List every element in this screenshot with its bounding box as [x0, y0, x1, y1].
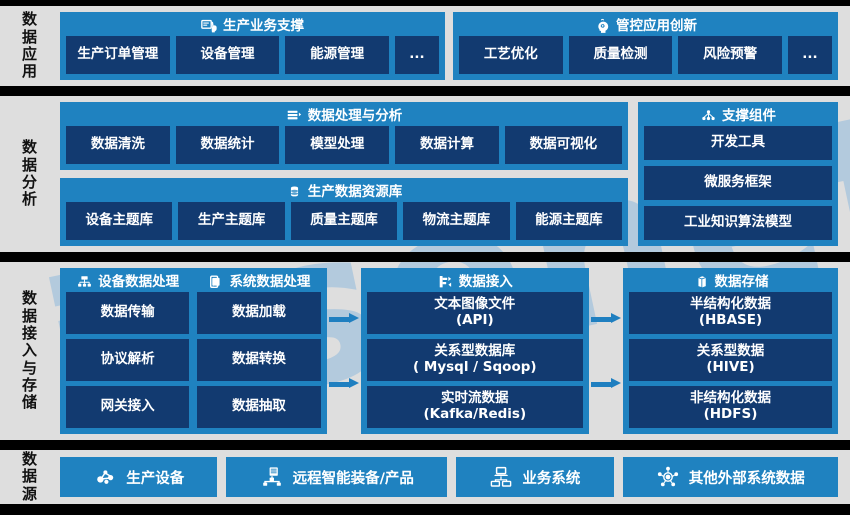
group-title-device-data-processing: 设备数据处理 [66, 272, 189, 292]
server-rack-icon [76, 274, 93, 291]
group-title-text: 管控应用创新 [616, 17, 697, 36]
separator-2 [0, 252, 850, 262]
band-label-data-analysis: 数据分析 [0, 96, 60, 252]
group-title-system-data-processing: 系统数据处理 [197, 272, 320, 292]
separator-bottom [0, 504, 850, 515]
tiles-production-business-support: 生产订单管理 设备管理 能源管理 ... [66, 36, 439, 74]
band-data-ingestion-storage: 数据接入与存储 [0, 262, 850, 440]
data-plug-icon [437, 274, 454, 291]
source-production-equipment[interactable]: 生产设备 [60, 457, 217, 497]
group-control-application-innovation[interactable]: 管控应用创新 工艺优化 质量检测 风险预警 ... [453, 12, 838, 80]
tile-risk-warning[interactable]: 风险预警 [678, 36, 782, 74]
source-label: 业务系统 [522, 467, 580, 488]
group-title-text: 系统数据处理 [229, 273, 310, 292]
tile-relational-hive[interactable]: 关系型数据 (HIVE) [629, 339, 832, 381]
group-title-production-data-repository: 生产数据资源库 [66, 182, 622, 202]
tile-data-transformation[interactable]: 数据转换 [197, 339, 320, 381]
band-data-application: 数据应用 生产业务支撑 生产订单管理 设备管理 [0, 6, 850, 86]
source-label: 远程智能装备/产品 [293, 467, 414, 488]
molecule-node-icon [93, 465, 117, 489]
group-data-storage[interactable]: 数据存储 半结构化数据 (HBASE) 关系型数据 (HIVE) 非结构化数据 … [623, 268, 838, 434]
tile-unstructured-hdfs[interactable]: 非结构化数据 (HDFS) [629, 386, 832, 428]
head-gear-idea-icon [594, 18, 611, 35]
tile-text-image-file-api[interactable]: 文本图像文件 (API) [367, 292, 583, 334]
tile-energy-subject-db[interactable]: 能源主题库 [516, 202, 622, 240]
band-data-source: 数据源 生产设备 [0, 450, 850, 504]
tile-equipment-subject-db[interactable]: 设备主题库 [66, 202, 172, 240]
tile-production-subject-db[interactable]: 生产主题库 [178, 202, 284, 240]
tile-semi-structured-hbase[interactable]: 半结构化数据 (HBASE) [629, 292, 832, 334]
architecture-diagram: icsonet 数据应用 生产业务支撑 [0, 0, 850, 515]
analysis-left-column: 数据处理与分析 数据清洗 数据统计 模型处理 数据计算 数据可视化 [60, 102, 628, 246]
band-label-text: 数据应用 [22, 11, 39, 81]
tile-gateway-access[interactable]: 网关接入 [66, 386, 189, 428]
tile-more-business[interactable]: ... [395, 36, 439, 74]
group-title-data-storage: 数据存储 [629, 272, 832, 292]
arrow-processing-to-ingest-top [329, 313, 359, 324]
separator-1 [0, 86, 850, 96]
group-title-data-ingestion: 数据接入 [367, 272, 583, 292]
group-title-data-processing-analysis: 数据处理与分析 [66, 106, 622, 126]
source-label: 生产设备 [126, 467, 184, 488]
tiles-device-system-processing: 数据传输 协议解析 网关接入 数据加载 数据转换 数据抽取 [66, 292, 321, 428]
group-title-control-application-innovation: 管控应用创新 [459, 16, 832, 36]
presentation-hand-icon [201, 18, 218, 35]
group-device-and-system-processing[interactable]: 设备数据处理 系统数据处理 [60, 268, 327, 434]
tile-quality-inspection[interactable]: 质量检测 [569, 36, 673, 74]
tile-relational-database-mysql-sqoop[interactable]: 关系型数据库 ( Mysql / Sqoop) [367, 339, 583, 381]
tile-data-computation[interactable]: 数据计算 [395, 126, 499, 164]
tile-data-visualization[interactable]: 数据可视化 [505, 126, 622, 164]
arrow-ingest-to-storage-top [591, 313, 621, 324]
external-hub-icon [656, 465, 680, 489]
tile-quality-subject-db[interactable]: 质量主题库 [291, 202, 397, 240]
storage-box-icon [693, 274, 710, 291]
group-title-support-components: 支撑组件 [644, 106, 832, 126]
group-title-text: 数据存储 [715, 273, 769, 292]
tile-industrial-knowledge-algorithm-model[interactable]: 工业知识算法模型 [644, 206, 832, 240]
tiles-data-ingestion: 文本图像文件 (API) 关系型数据库 ( Mysql / Sqoop) 实时流… [367, 292, 583, 428]
group-data-ingestion[interactable]: 数据接入 文本图像文件 (API) 关系型数据库 ( Mysql / Sqoop… [361, 268, 589, 434]
tile-data-transmission[interactable]: 数据传输 [66, 292, 189, 334]
tile-energy-management[interactable]: 能源管理 [285, 36, 389, 74]
source-other-external-system-data[interactable]: 其他外部系统数据 [623, 457, 838, 497]
tile-protocol-parsing[interactable]: 协议解析 [66, 339, 189, 381]
tile-data-loading[interactable]: 数据加载 [197, 292, 320, 334]
tile-microservice-framework[interactable]: 微服务框架 [644, 166, 832, 200]
source-business-system[interactable]: 业务系统 [456, 457, 613, 497]
group-title-text: 设备数据处理 [98, 273, 179, 292]
tiles-production-data-repository: 设备主题库 生产主题库 质量主题库 物流主题库 能源主题库 [66, 202, 622, 240]
source-remote-smart-equipment[interactable]: 远程智能装备/产品 [226, 457, 447, 497]
group-title-text: 数据接入 [459, 273, 513, 292]
tiles-support-components: 开发工具 微服务框架 工业知识算法模型 [644, 126, 832, 240]
arrows-processing-to-ingest [327, 268, 361, 434]
band-label-text: 数据接入与存储 [22, 290, 39, 412]
tiles-system-data-processing: 数据加载 数据转换 数据抽取 [197, 292, 320, 428]
remote-equipment-icon [260, 465, 284, 489]
group-title-text: 支撑组件 [722, 107, 776, 126]
tile-realtime-stream-kafka-redis[interactable]: 实时流数据 (Kafka/Redis) [367, 386, 583, 428]
separator-3 [0, 440, 850, 450]
tile-data-cleaning[interactable]: 数据清洗 [66, 126, 170, 164]
band-label-data-ingestion-storage: 数据接入与存储 [0, 262, 60, 440]
mobile-device-icon [207, 274, 224, 291]
tiles-data-processing-analysis: 数据清洗 数据统计 模型处理 数据计算 数据可视化 [66, 126, 622, 164]
tiles-control-application-innovation: 工艺优化 质量检测 风险预警 ... [459, 36, 832, 74]
band-data-analysis: 数据分析 数据处理与分析 [0, 96, 850, 252]
tile-process-optimization[interactable]: 工艺优化 [459, 36, 563, 74]
group-production-business-support[interactable]: 生产业务支撑 生产订单管理 设备管理 能源管理 ... [60, 12, 445, 80]
data-layers-icon [286, 108, 303, 125]
database-icon [286, 184, 303, 201]
group-data-processing-analysis[interactable]: 数据处理与分析 数据清洗 数据统计 模型处理 数据计算 数据可视化 [60, 102, 628, 170]
group-title-text: 生产数据资源库 [308, 183, 403, 202]
band-label-data-source: 数据源 [0, 450, 60, 504]
tile-more-control[interactable]: ... [788, 36, 832, 74]
tile-production-order-management[interactable]: 生产订单管理 [66, 36, 170, 74]
arrow-ingest-to-storage-bottom [591, 378, 621, 389]
arrow-processing-to-ingest-bottom [329, 378, 359, 389]
source-label: 其他外部系统数据 [689, 467, 805, 488]
laptop-network-icon [489, 465, 513, 489]
tile-data-statistics[interactable]: 数据统计 [176, 126, 280, 164]
network-nodes-icon [700, 108, 717, 125]
tile-development-tools[interactable]: 开发工具 [644, 126, 832, 160]
group-title-production-business-support: 生产业务支撑 [66, 16, 439, 36]
separator-top [0, 0, 850, 6]
group-title-text: 生产业务支撑 [223, 17, 304, 36]
group-production-data-repository[interactable]: 生产数据资源库 设备主题库 生产主题库 质量主题库 物流主题库 能源主题库 [60, 178, 628, 246]
tiles-data-storage: 半结构化数据 (HBASE) 关系型数据 (HIVE) 非结构化数据 (HDFS… [629, 292, 832, 428]
band-label-text: 数据源 [22, 451, 39, 503]
group-support-components[interactable]: 支撑组件 开发工具 微服务框架 工业知识算法模型 [638, 102, 838, 246]
tile-data-extraction[interactable]: 数据抽取 [197, 386, 320, 428]
tiles-device-data-processing: 数据传输 协议解析 网关接入 [66, 292, 189, 428]
data-source-list: 生产设备 远程智能装备/产品 [60, 457, 838, 497]
tile-logistics-subject-db[interactable]: 物流主题库 [403, 202, 509, 240]
band-label-text: 数据分析 [22, 139, 39, 209]
tile-model-processing[interactable]: 模型处理 [285, 126, 389, 164]
band-label-data-application: 数据应用 [0, 6, 60, 86]
arrows-ingest-to-storage [589, 268, 623, 434]
group-title-text: 数据处理与分析 [308, 107, 403, 126]
tile-equipment-management[interactable]: 设备管理 [176, 36, 280, 74]
